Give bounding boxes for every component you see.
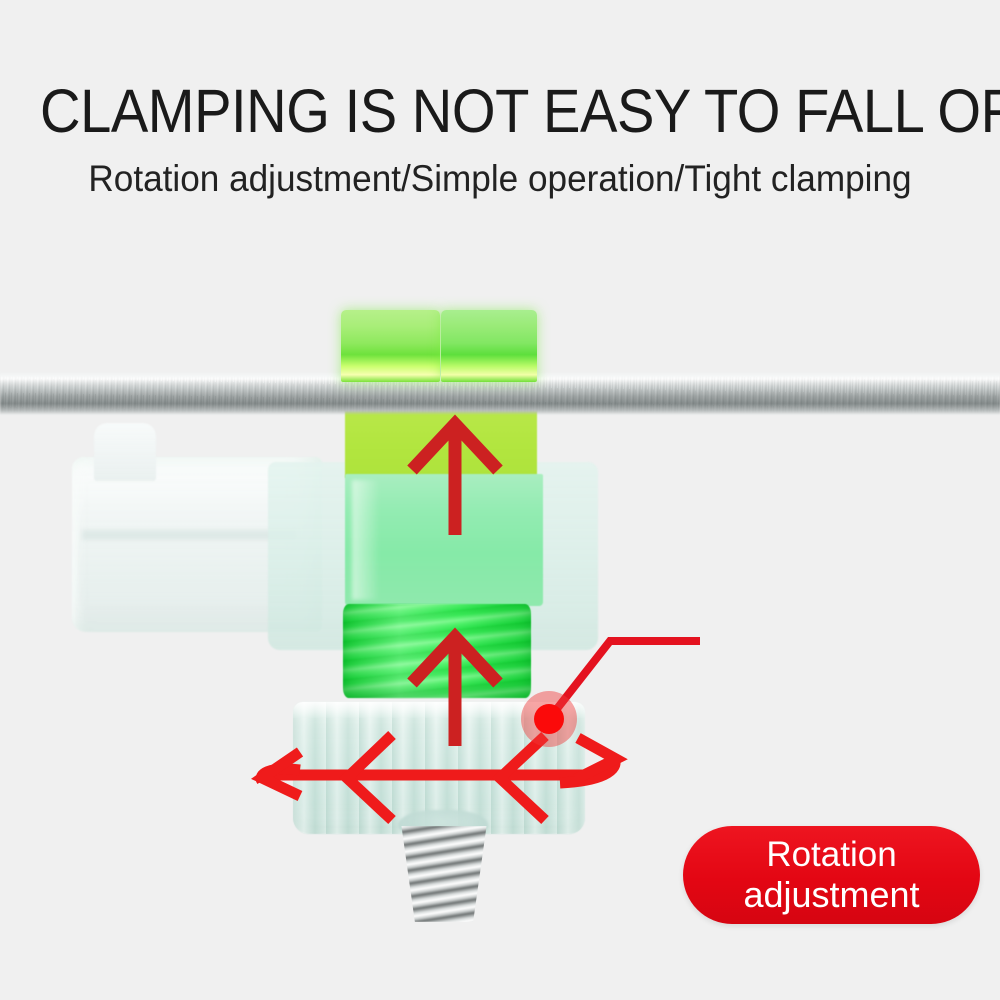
up-arrow-lower [412,637,498,746]
page-subtitle: Rotation adjustment/Simple operation/Tig… [25,156,975,202]
up-arrow-upper [412,424,498,535]
rotation-arrows-ellipse [261,735,616,820]
product-marketing-image: CLAMPING IS NOT EASY TO FALL OFF Rotatio… [0,0,1000,1000]
callout-anchor-dot [534,704,564,734]
callout-line-1: Rotation [766,835,896,875]
page-title: CLAMPING IS NOT EASY TO FALL OFF [40,78,960,144]
callout-rotation-adjustment[interactable]: Rotation adjustment [683,826,980,924]
product-photo: Rotation adjustment [0,230,1000,1000]
callout-line-2: adjustment [743,875,919,915]
